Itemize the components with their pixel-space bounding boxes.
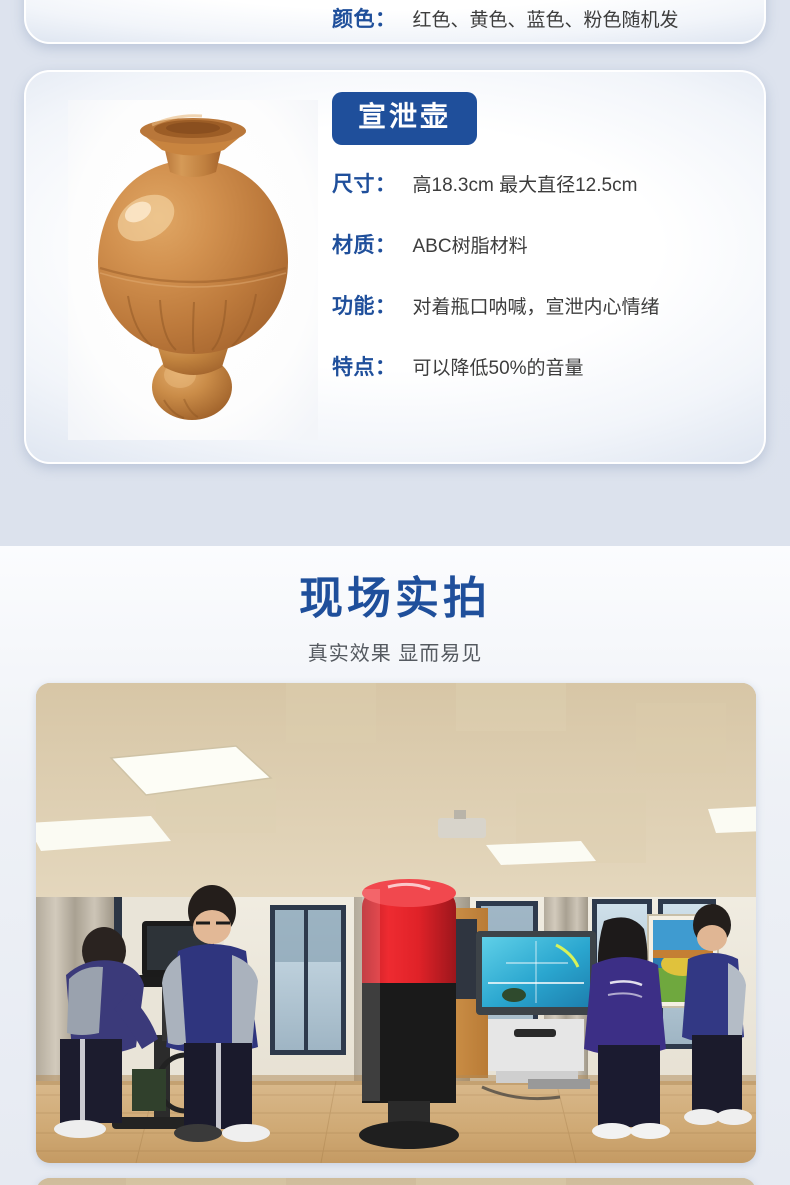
- spec-card-xuanxiehu: 宣泄壶 尺寸： 高18.3cm 最大直径12.5cm 材质： ABC树脂材料 功…: [24, 70, 766, 464]
- spec-row-size: 尺寸： 高18.3cm 最大直径12.5cm: [332, 168, 752, 198]
- spec-row-material: 材质： ABC树脂材料: [332, 229, 752, 259]
- gallery-photo-2[interactable]: [36, 1178, 756, 1185]
- spec-row-color: 颜色： 红色、黄色、蓝色、粉色随机发: [332, 3, 679, 33]
- spec-value: 对着瓶口呐喊，宣泄内心情绪: [413, 292, 660, 319]
- gallery-section: 现场实拍 真实效果 显而易见: [0, 546, 790, 1185]
- gallery-title: 现场实拍: [0, 574, 790, 625]
- spec-label: 颜色：: [332, 3, 397, 33]
- product-image-xuanxiehu: [68, 100, 318, 440]
- gallery-heading: 现场实拍 真实效果 显而易见: [0, 546, 790, 666]
- product-spec-list: 尺寸： 高18.3cm 最大直径12.5cm 材质： ABC树脂材料 功能： 对…: [332, 168, 752, 381]
- product-spec-section: 颜色： 红色、黄色、蓝色、粉色随机发: [0, 0, 790, 546]
- spec-row-feature: 特点： 可以降低50%的音量: [332, 351, 752, 381]
- product-title-badge: 宣泄壶: [332, 92, 477, 145]
- spec-value: 红色、黄色、蓝色、粉色随机发: [413, 5, 679, 32]
- spec-value: 高18.3cm 最大直径12.5cm: [413, 170, 638, 197]
- spec-label: 材质：: [332, 229, 397, 259]
- spec-card-previous: 颜色： 红色、黄色、蓝色、粉色随机发: [24, 0, 766, 44]
- spec-value: 可以降低50%的音量: [413, 353, 584, 380]
- gallery-photo-1[interactable]: [36, 683, 756, 1163]
- spec-value: ABC树脂材料: [413, 231, 528, 258]
- spec-row-function: 功能： 对着瓶口呐喊，宣泄内心情绪: [332, 290, 752, 320]
- spec-label: 尺寸：: [332, 168, 397, 198]
- spec-label: 特点：: [332, 351, 397, 381]
- spec-label: 功能：: [332, 290, 397, 320]
- gallery-subtitle: 真实效果 显而易见: [0, 637, 790, 666]
